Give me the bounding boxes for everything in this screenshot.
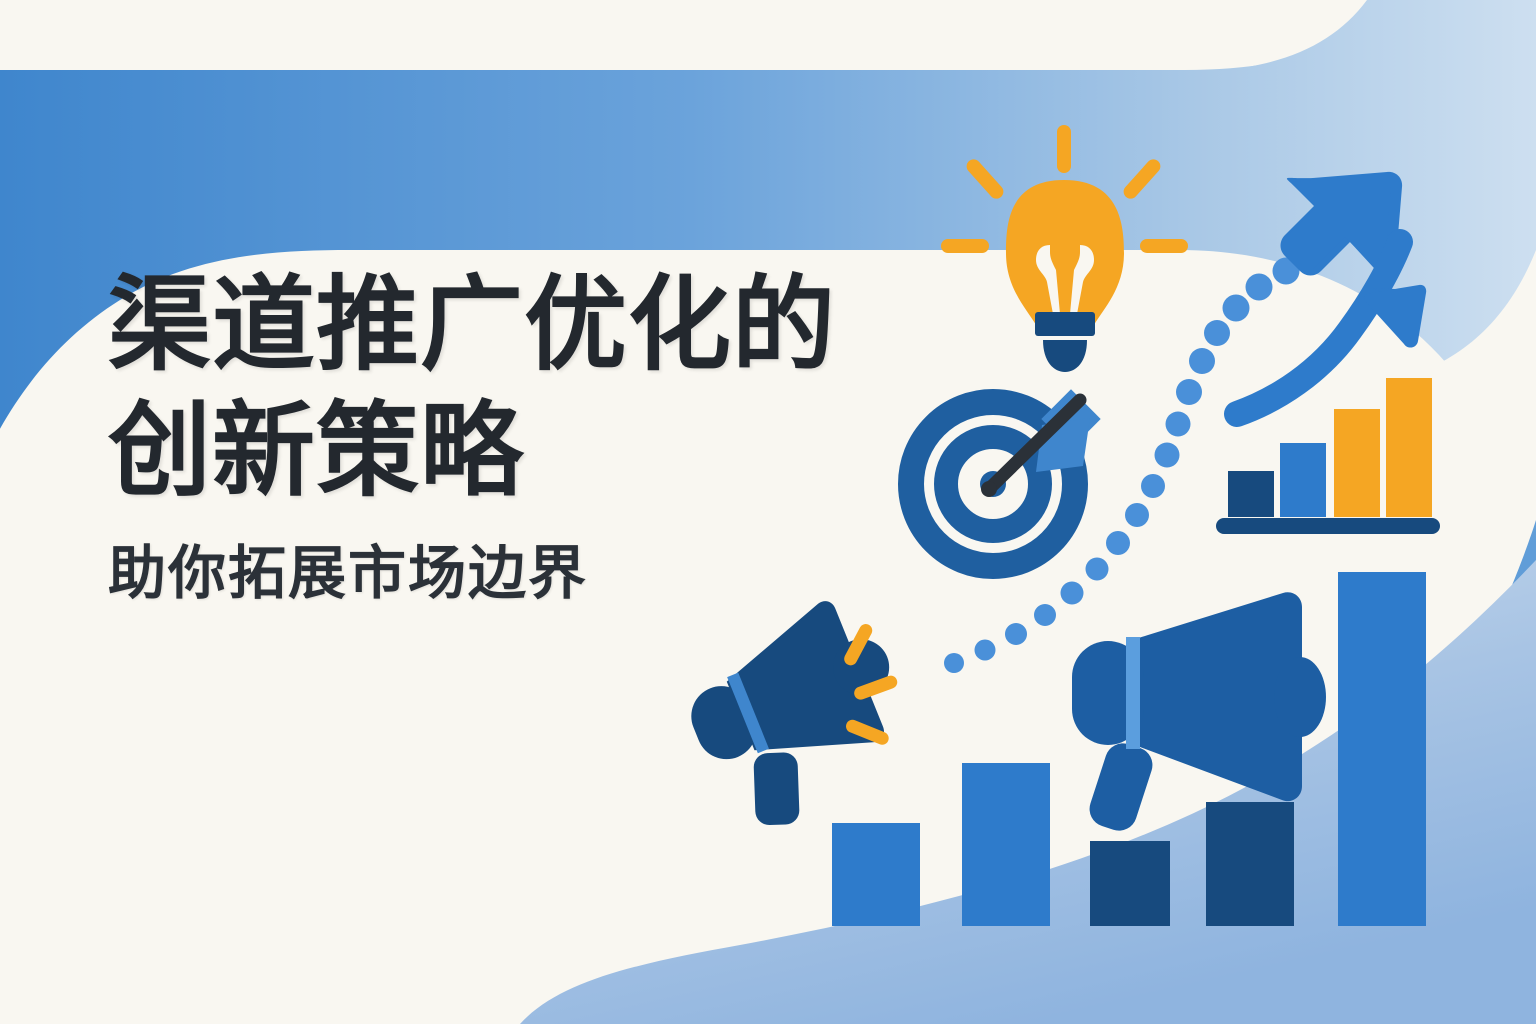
arrow-tip xyxy=(981,481,997,497)
mini-bar-4 xyxy=(1386,378,1432,517)
lightbulb-screw xyxy=(1035,312,1095,336)
lightbulb-glass xyxy=(1006,180,1124,325)
hero-bar-4 xyxy=(1206,802,1294,926)
megaphone-left-handle xyxy=(753,752,799,825)
lightbulb-icon xyxy=(941,125,1188,372)
megaphone-right-handle xyxy=(1085,739,1157,836)
title-line-1: 渠道推广优化的 xyxy=(108,262,836,388)
megaphone-icon-left xyxy=(668,587,933,848)
lightbulb-ray-upper-left xyxy=(964,156,1007,201)
lightbulb-ray-top xyxy=(1057,125,1071,173)
lightbulb-base xyxy=(1043,340,1087,372)
mini-bar-2 xyxy=(1280,443,1326,517)
headline-block: 渠道推广优化的 创新策略 助你拓展市场边界 xyxy=(108,262,836,609)
hero-bar-1 xyxy=(832,823,920,926)
megaphone-icon-right xyxy=(1072,592,1326,835)
lightbulb-ray-left xyxy=(941,239,989,253)
title-line-2: 创新策略 xyxy=(108,388,836,514)
mini-bar-3 xyxy=(1334,409,1380,517)
subtitle: 助你拓展市场边界 xyxy=(108,539,836,609)
hero-bar-2 xyxy=(962,763,1050,926)
lightbulb-ray-upper-right xyxy=(1121,156,1164,201)
megaphone-right-band xyxy=(1126,637,1140,749)
mini-chart-baseline xyxy=(1216,518,1440,534)
hero-bar-5 xyxy=(1338,572,1426,926)
poster-canvas: 渠道推广优化的 创新策略 助你拓展市场边界 xyxy=(0,0,1536,1024)
target-arrow-icon xyxy=(911,389,1101,566)
hero-bar-3 xyxy=(1090,841,1170,926)
lightbulb-ray-right xyxy=(1140,239,1188,253)
megaphone-right-lip xyxy=(1274,657,1326,737)
mini-bar-1 xyxy=(1228,471,1274,517)
